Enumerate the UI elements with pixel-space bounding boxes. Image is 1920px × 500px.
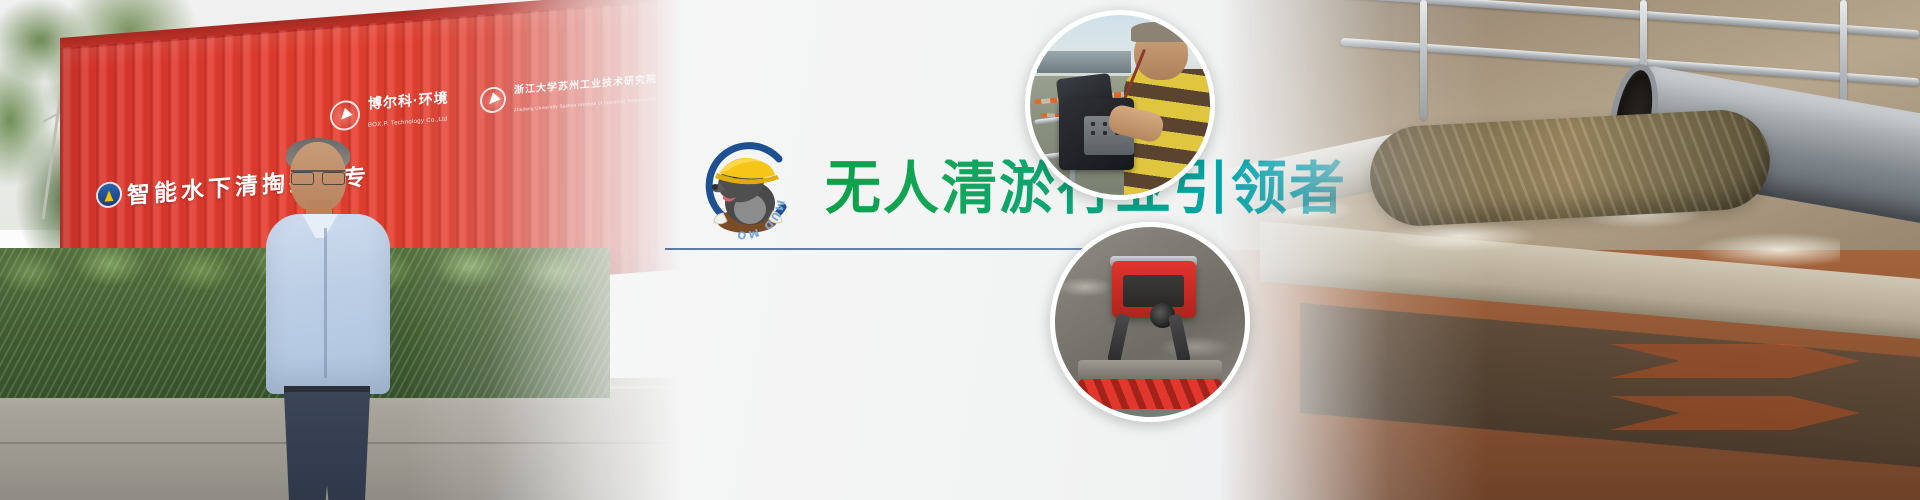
dredging-robot-scene [1055, 227, 1245, 417]
mud-mole-logo[interactable]: MUD MOLE [693, 135, 801, 243]
person-engineer [262, 142, 392, 500]
institute-seal-icon [480, 86, 506, 114]
rail-post [1420, 0, 1427, 120]
chevron-overlay [1610, 326, 1860, 430]
robot-interior [1123, 275, 1184, 307]
hero-banner: 博尔科·环境 BOX.P. Technology Co.,Ltd 浙江大学苏州工… [0, 0, 1920, 500]
glasses-icon [291, 170, 345, 182]
circle-photo-operator[interactable] [1025, 10, 1215, 200]
circle-photo-dredging-robot[interactable] [1050, 222, 1250, 422]
auger-head [1078, 379, 1222, 409]
shirt [266, 214, 390, 394]
slogan-badge-icon [98, 183, 120, 207]
operator-scene [1030, 15, 1210, 195]
brand-seal-icon [330, 99, 360, 131]
operator-cap [1131, 22, 1192, 42]
chevron-arrow [1610, 344, 1860, 378]
trousers [284, 392, 370, 500]
right-photo-collage [1220, 0, 1920, 500]
left-photo: 博尔科·环境 BOX.P. Technology Co.,Ltd 浙江大学苏州工… [0, 0, 700, 500]
chevron-arrow [1610, 396, 1860, 430]
sludge-flow [1368, 108, 1773, 229]
shirt-placket [324, 228, 327, 378]
shed-building [1037, 51, 1131, 73]
